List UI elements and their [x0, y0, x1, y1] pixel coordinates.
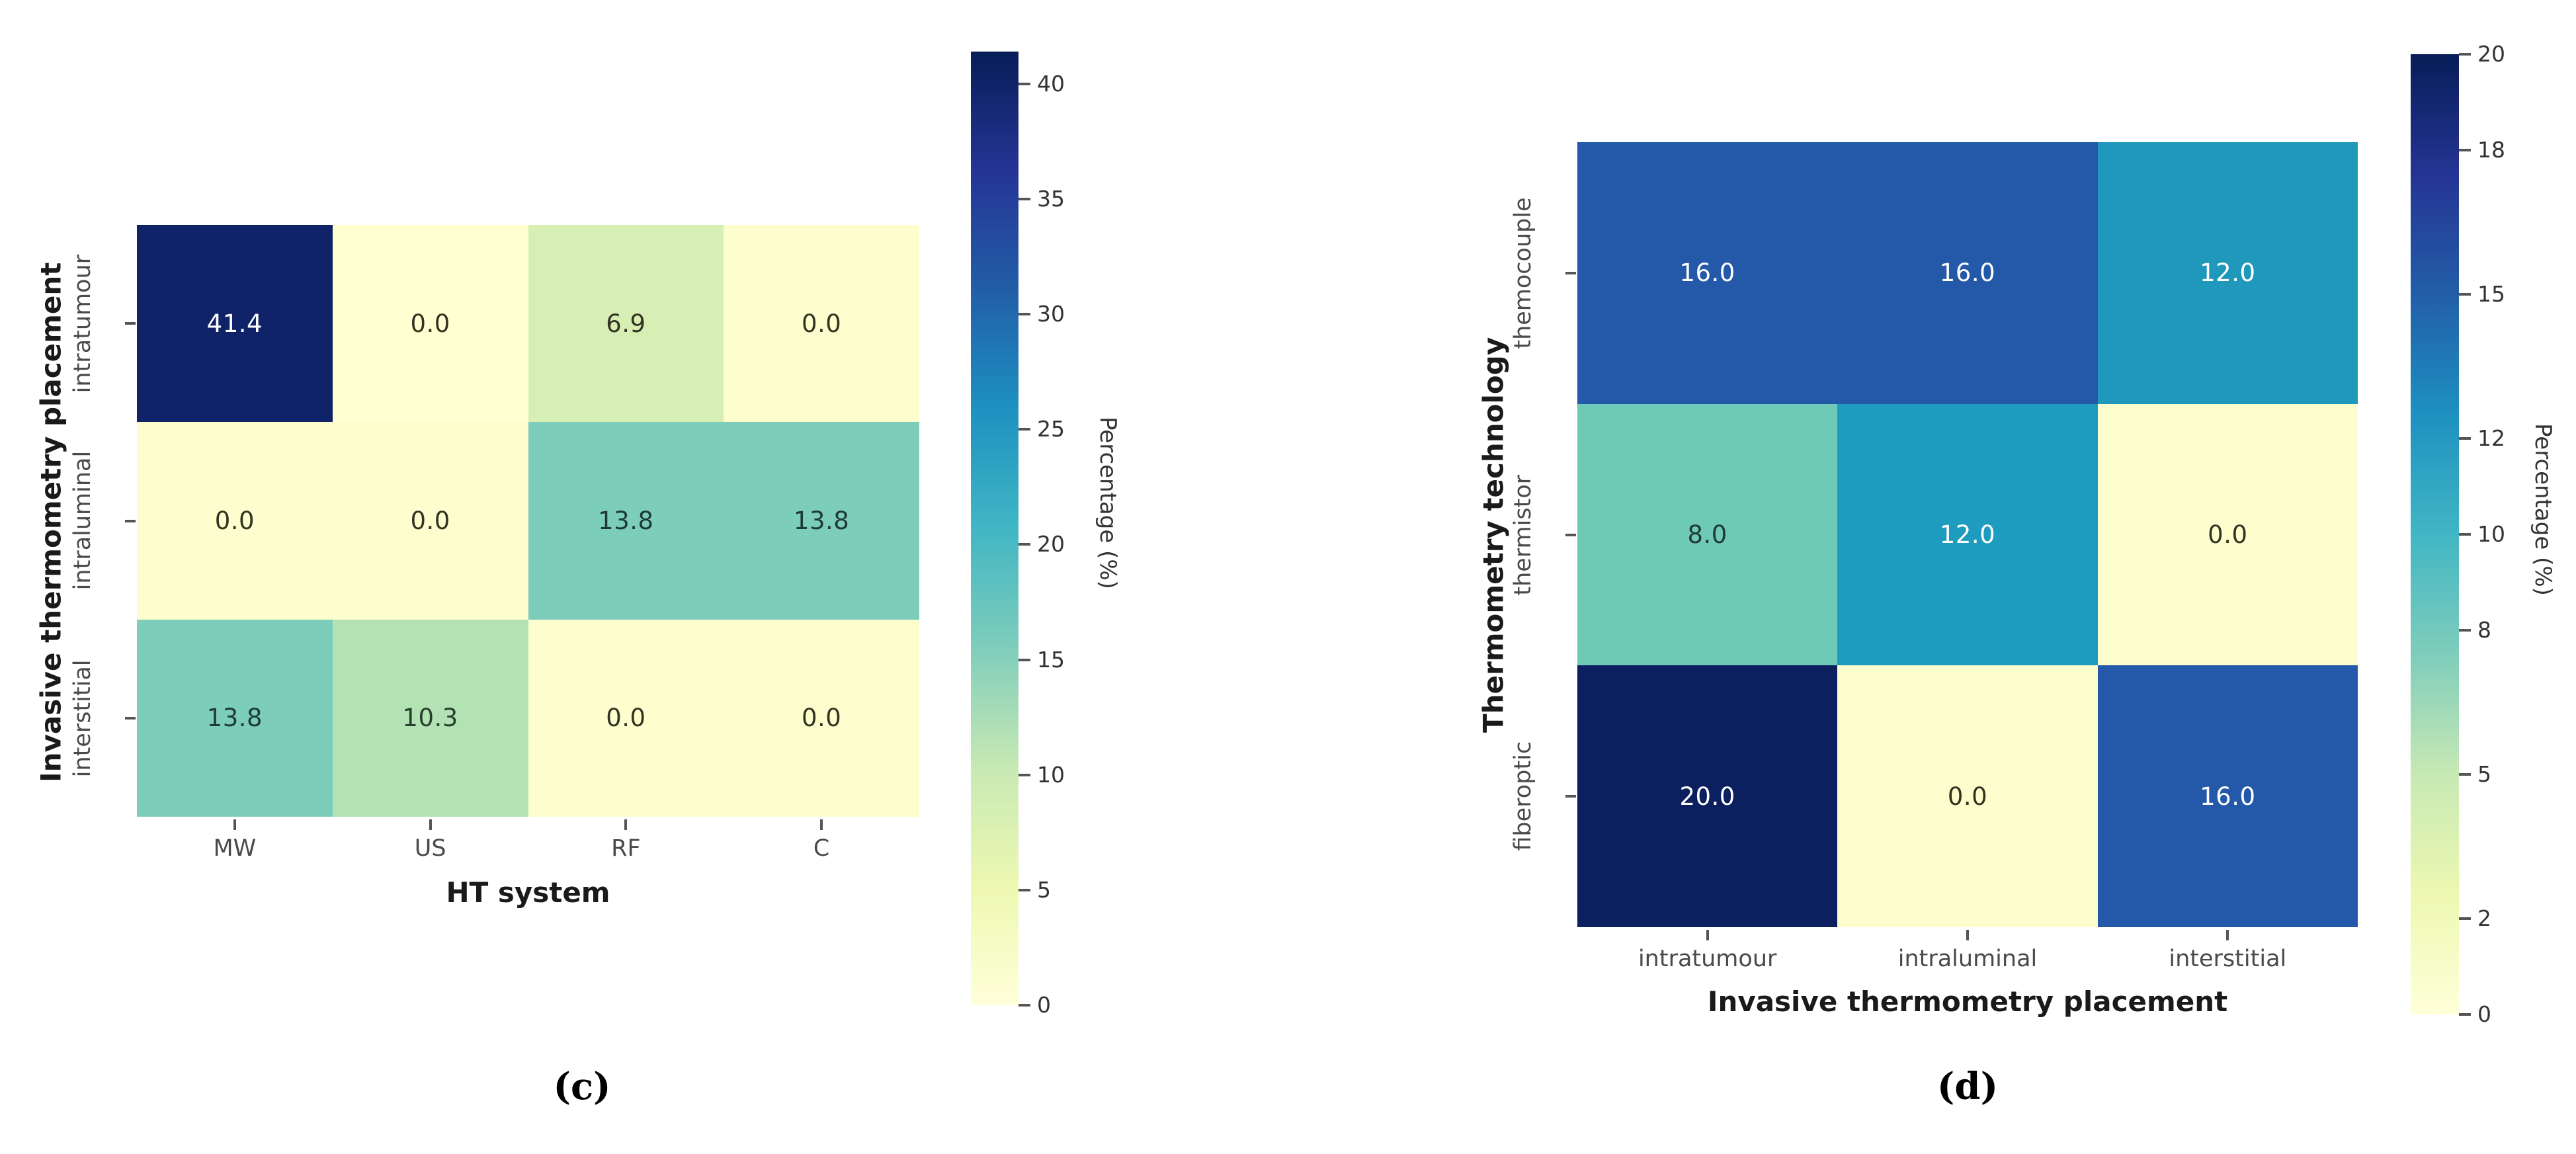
panel-c-y-axis-label: Invasive thermometry placement [34, 225, 67, 820]
colorbar-tick-label: 20 [1037, 531, 1065, 557]
y-tick-mark [1565, 272, 1576, 274]
heatmap-cell: 0.0 [1837, 665, 2097, 927]
heatmap-cell-value: 16.0 [2200, 782, 2255, 811]
colorbar-tick-mark [1018, 83, 1030, 85]
heatmap-cell: 0.0 [2098, 404, 2358, 666]
colorbar-tick-mark [1018, 198, 1030, 200]
panel-d-colorbar [2411, 54, 2459, 1014]
heatmap-cell: 6.9 [528, 225, 724, 422]
heatmap-cell: 10.3 [333, 620, 528, 817]
colorbar-tick-label: 0 [2477, 1001, 2491, 1027]
heatmap-cell: 12.0 [1837, 404, 2097, 666]
panel-c-colorbar [971, 52, 1018, 1005]
x-tick-mark [1966, 930, 1969, 940]
y-tick-label: intraluminal [67, 422, 98, 619]
colorbar-tick-label: 40 [1037, 71, 1065, 97]
panel-c: Invasive thermometry placement intratumo… [0, 0, 1257, 1154]
colorbar-tick-mark [2459, 437, 2471, 440]
colorbar-tick-label: 5 [2477, 761, 2491, 787]
y-tick-mark [1565, 534, 1576, 536]
y-tick-mark [125, 717, 136, 720]
panel-c-caption: (c) [450, 1065, 714, 1108]
heatmap-cell-value: 8.0 [1687, 520, 1727, 549]
heatmap-cell: 0.0 [528, 620, 724, 817]
x-tick-label: intraluminal [1837, 946, 2097, 972]
panel-c-x-axis-label: HT system [137, 876, 919, 909]
heatmap-cell: 0.0 [333, 422, 528, 619]
heatmap-cell-value: 13.8 [598, 507, 653, 535]
x-tick-label: US [333, 835, 528, 862]
y-tick-label: fiberoptic [1508, 665, 1538, 927]
x-tick-mark [2226, 930, 2229, 940]
colorbar-tick-label: 15 [1037, 647, 1065, 673]
colorbar-tick-mark [2459, 53, 2471, 56]
panel-c-colorbar-label: Percentage (%) [1095, 417, 1121, 589]
heatmap-cell-value: 0.0 [215, 507, 255, 535]
heatmap-cell-value: 0.0 [802, 704, 841, 732]
heatmap-cell-value: 6.9 [606, 309, 645, 338]
colorbar-tick-mark [1018, 428, 1030, 431]
x-tick-label: intratumour [1577, 946, 1837, 972]
panel-c-heatmap: 41.40.06.90.00.00.013.813.813.810.30.00.… [137, 225, 919, 817]
heatmap-cell: 0.0 [724, 620, 919, 817]
colorbar-tick-label: 5 [1037, 877, 1051, 903]
heatmap-cell: 41.4 [137, 225, 333, 422]
x-tick-mark [1706, 930, 1709, 940]
heatmap-cell-value: 16.0 [1679, 259, 1735, 287]
heatmap-cell-value: 20.0 [1679, 782, 1735, 811]
colorbar-tick-mark [2459, 917, 2471, 920]
x-tick-label: RF [528, 835, 724, 862]
heatmap-cell-value: 0.0 [802, 309, 841, 338]
colorbar-tick-mark [2459, 773, 2471, 776]
heatmap-cell-value: 0.0 [1948, 782, 1987, 811]
panel-d-caption: (d) [1835, 1065, 2100, 1108]
y-tick-mark [125, 520, 136, 522]
heatmap-cell-value: 0.0 [2208, 520, 2247, 549]
colorbar-tick-label: 0 [1037, 992, 1051, 1018]
heatmap-cell: 0.0 [137, 422, 333, 619]
colorbar-tick-mark [1018, 543, 1030, 546]
colorbar-tick-mark [1018, 889, 1030, 891]
panel-c-colorbar-gradient [971, 52, 1018, 1005]
colorbar-tick-label: 10 [1037, 762, 1065, 788]
colorbar-tick-mark [2459, 1013, 2471, 1016]
heatmap-cell-value: 0.0 [410, 309, 450, 338]
colorbar-tick-mark [1018, 659, 1030, 661]
colorbar-tick-label: 12 [2477, 425, 2505, 451]
heatmap-cell: 0.0 [333, 225, 528, 422]
colorbar-tick-mark [2459, 629, 2471, 632]
panel-d-x-axis-label: Invasive thermometry placement [1577, 985, 2358, 1018]
x-tick-mark [624, 819, 627, 830]
x-tick-mark [233, 819, 236, 830]
heatmap-cell: 13.8 [724, 422, 919, 619]
x-tick-label: C [724, 835, 919, 862]
heatmap-cell: 0.0 [724, 225, 919, 422]
colorbar-tick-label: 18 [2477, 137, 2505, 163]
heatmap-cell: 12.0 [2098, 142, 2358, 404]
colorbar-tick-mark [2459, 533, 2471, 536]
heatmap-cell: 20.0 [1577, 665, 1837, 927]
y-tick-label: themocouple [1508, 142, 1538, 404]
colorbar-tick-mark [1018, 774, 1030, 776]
heatmap-cell-value: 12.0 [1940, 520, 1995, 549]
colorbar-tick-label: 2 [2477, 905, 2491, 931]
heatmap-cell-value: 16.0 [1940, 259, 1995, 287]
y-tick-label: interstitial [67, 620, 98, 817]
colorbar-tick-label: 15 [2477, 281, 2505, 307]
panel-d-colorbar-gradient [2411, 54, 2459, 1014]
y-tick-mark [1565, 795, 1576, 798]
panel-d-heatmap: 16.016.012.08.012.00.020.00.016.0 [1577, 142, 2358, 927]
heatmap-cell: 16.0 [2098, 665, 2358, 927]
heatmap-cell-value: 13.8 [794, 507, 849, 535]
colorbar-tick-label: 8 [2477, 617, 2491, 643]
heatmap-cell: 8.0 [1577, 404, 1837, 666]
colorbar-tick-mark [2459, 149, 2471, 151]
colorbar-tick-label: 10 [2477, 521, 2505, 547]
heatmap-cell-value: 41.4 [207, 309, 263, 338]
heatmap-cell: 13.8 [528, 422, 724, 619]
heatmap-cell: 16.0 [1577, 142, 1837, 404]
panel-d: Thermometry technology themocouplethermi… [1257, 0, 2576, 1154]
colorbar-tick-mark [2459, 293, 2471, 296]
colorbar-tick-label: 35 [1037, 186, 1065, 212]
colorbar-tick-label: 20 [2477, 41, 2505, 67]
heatmap-cell-value: 0.0 [606, 704, 645, 732]
y-tick-label: thermistor [1508, 404, 1538, 666]
y-tick-label: intratumour [67, 225, 98, 422]
heatmap-cell-value: 0.0 [410, 507, 450, 535]
x-tick-label: MW [137, 835, 333, 862]
panel-d-y-axis-label: Thermometry technology [1477, 142, 1510, 927]
x-tick-mark [429, 819, 432, 830]
colorbar-tick-label: 30 [1037, 301, 1065, 327]
colorbar-tick-mark [1018, 1004, 1030, 1007]
colorbar-tick-mark [1018, 313, 1030, 315]
heatmap-cell-value: 12.0 [2200, 259, 2255, 287]
heatmap-cell-value: 13.8 [207, 704, 263, 732]
x-tick-label: interstitial [2098, 946, 2358, 972]
heatmap-cell-value: 10.3 [402, 704, 458, 732]
heatmap-cell: 16.0 [1837, 142, 2097, 404]
panel-d-colorbar-label: Percentage (%) [2530, 423, 2556, 596]
x-tick-mark [820, 819, 823, 830]
y-tick-mark [125, 322, 136, 325]
heatmap-cell: 13.8 [137, 620, 333, 817]
colorbar-tick-label: 25 [1037, 416, 1065, 442]
